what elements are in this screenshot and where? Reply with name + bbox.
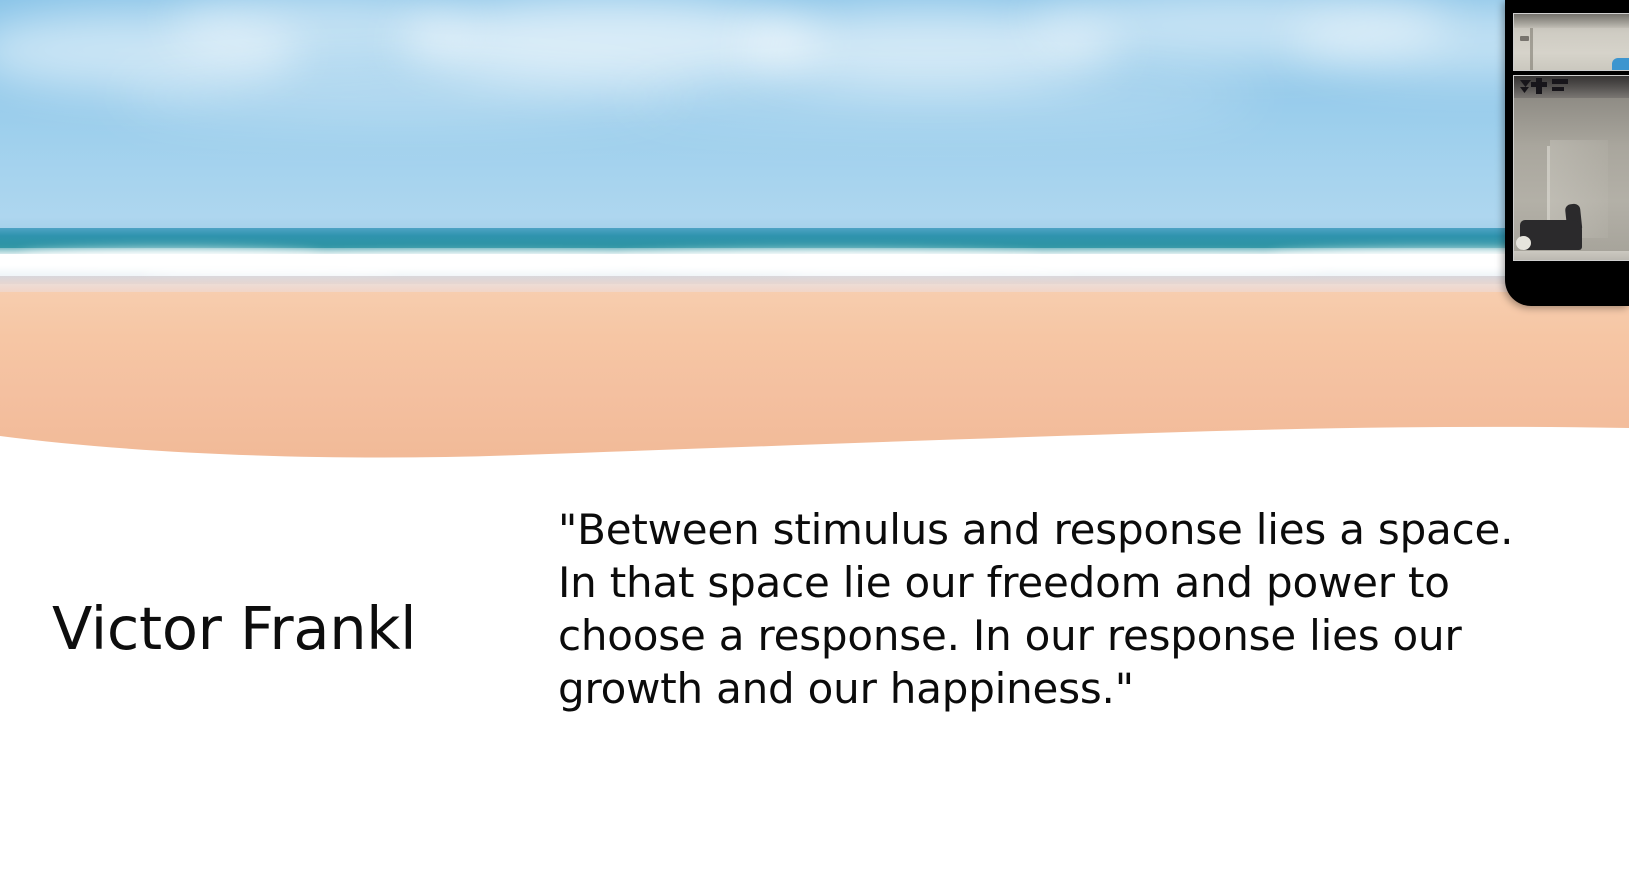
overlay-glyph-icon xyxy=(1552,87,1564,91)
slide-content-area: Victor Frankl "Between stimulus and resp… xyxy=(0,470,1629,886)
tile-header-bar xyxy=(1514,76,1629,98)
light-highlight xyxy=(1516,236,1531,250)
beach-sand-region xyxy=(0,292,1629,500)
participant-video-tile-top[interactable] xyxy=(1513,13,1629,71)
cloud-shape xyxy=(400,0,820,84)
blue-object xyxy=(1612,58,1629,70)
floor-strip xyxy=(1514,251,1629,260)
sky-region xyxy=(0,0,1629,236)
cloud-shape xyxy=(620,70,1260,118)
video-call-overlay-panel[interactable] xyxy=(1505,0,1629,306)
cloud-shape xyxy=(170,0,470,62)
cloud-shape xyxy=(120,62,680,118)
participant-video-tile-bottom[interactable] xyxy=(1513,75,1629,261)
presentation-slide: Victor Frankl "Between stimulus and resp… xyxy=(0,0,1629,886)
cloud-shape xyxy=(0,10,300,90)
wave-foam xyxy=(140,264,400,276)
author-name: Victor Frankl xyxy=(52,598,522,660)
cloud-shape xyxy=(1030,0,1450,62)
overlay-glyph-icon xyxy=(1531,82,1547,87)
cloud-shape xyxy=(740,6,1120,86)
ceiling-shadow xyxy=(1514,14,1629,28)
quote-text: "Between stimulus and response lies a sp… xyxy=(558,504,1558,716)
wall-fixture xyxy=(1520,36,1529,41)
overlay-glyph-icon xyxy=(1552,79,1568,84)
door-edge xyxy=(1530,28,1533,71)
beach-background-image xyxy=(0,0,1629,500)
